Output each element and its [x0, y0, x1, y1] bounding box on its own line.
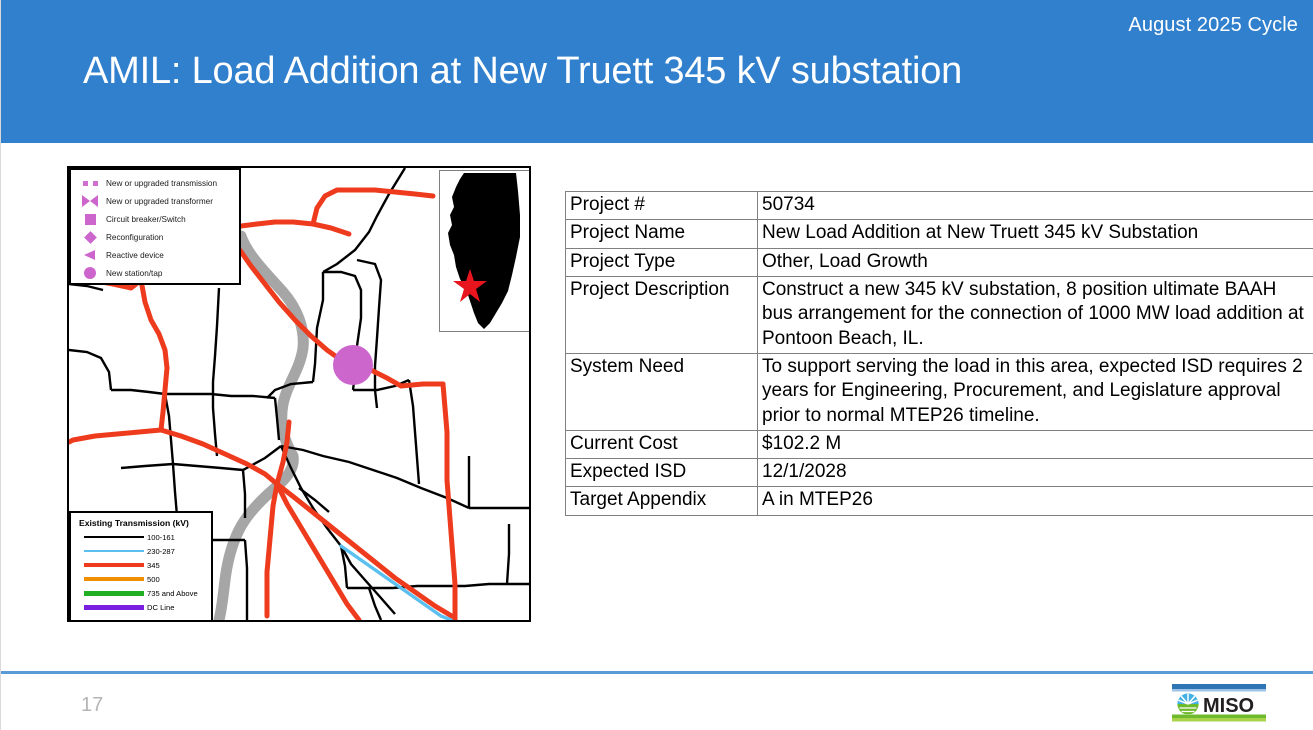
- filled-square-icon: [77, 214, 103, 225]
- transmission-map[interactable]: New or upgraded transmission New or upgr…: [67, 166, 531, 622]
- voltage-label: 230-287: [147, 547, 175, 556]
- row-key: Project Type: [566, 248, 758, 276]
- voltage-row-100-161: 100-161: [76, 530, 211, 544]
- legend-label: New or upgraded transmission: [106, 179, 217, 188]
- row-value: New Load Addition at New Truett 345 kV S…: [758, 220, 1313, 248]
- legend-label: Circuit breaker/Switch: [106, 215, 186, 224]
- diamond-icon: [77, 233, 103, 242]
- legend-label: Reactive device: [106, 251, 164, 260]
- row-value: 50734: [758, 192, 1313, 220]
- row-key: Project Name: [566, 220, 758, 248]
- row-key: Expected ISD: [566, 459, 758, 487]
- slide: August 2025 Cycle AMIL: Load Addition at…: [0, 0, 1313, 730]
- bowtie-transformer-icon: [77, 194, 103, 208]
- legend-label: New station/tap: [106, 269, 162, 278]
- legend-item-new-station: New station/tap: [77, 264, 235, 282]
- row-key: Target Appendix: [566, 487, 758, 515]
- line-swatch-345: [84, 563, 144, 567]
- voltage-label: 345: [147, 561, 160, 570]
- map-symbol-legend: New or upgraded transmission New or upgr…: [69, 168, 241, 285]
- line-swatch-100-161: [84, 536, 144, 538]
- project-info-table: Project # 50734 Project Name New Load Ad…: [565, 191, 1313, 516]
- legend-item-reconfiguration: Reconfiguration: [77, 228, 235, 246]
- slide-header: August 2025 Cycle AMIL: Load Addition at…: [1, 0, 1313, 143]
- voltage-row-735: 735 and Above: [76, 586, 211, 600]
- row-key: Project #: [566, 192, 758, 220]
- legend-item-new-transmission: New or upgraded transmission: [77, 174, 235, 192]
- legend-label: Reconfiguration: [106, 233, 163, 242]
- legend-item-new-transformer: New or upgraded transformer: [77, 192, 235, 210]
- row-value: To support serving the load in this area…: [758, 353, 1313, 430]
- row-value: Construct a new 345 kV substation, 8 pos…: [758, 276, 1313, 353]
- table-row: Project Type Other, Load Growth: [566, 248, 1313, 276]
- voltage-legend-title: Existing Transmission (kV): [79, 518, 211, 528]
- page-number: 17: [81, 694, 103, 717]
- voltage-row-345: 345: [76, 558, 211, 572]
- table-row: Target Appendix A in MTEP26: [566, 487, 1313, 515]
- table-row: System Need To support serving the load …: [566, 353, 1313, 430]
- table-row: Project # 50734: [566, 192, 1313, 220]
- voltage-row-500: 500: [76, 572, 211, 586]
- voltage-row-230-287: 230-287: [76, 544, 211, 558]
- line-swatch-230-287: [84, 550, 144, 552]
- voltage-label: 500: [147, 575, 160, 584]
- two-small-squares-icon: [77, 181, 103, 186]
- row-value: A in MTEP26: [758, 487, 1313, 515]
- legend-item-circuit-breaker: Circuit breaker/Switch: [77, 210, 235, 228]
- footer-divider: [1, 671, 1313, 674]
- voltage-label: DC Line: [147, 603, 174, 612]
- line-swatch-500: [84, 577, 144, 581]
- row-key: System Need: [566, 353, 758, 430]
- row-key: Project Description: [566, 276, 758, 353]
- row-value: 12/1/2028: [758, 459, 1313, 487]
- state-inset-map: [439, 170, 531, 332]
- legend-label: New or upgraded transformer: [106, 197, 213, 206]
- left-triangle-icon: [77, 249, 103, 261]
- row-value: $102.2 M: [758, 430, 1313, 458]
- illinois-shape-icon: [440, 171, 530, 331]
- line-swatch-735: [84, 591, 144, 596]
- map-voltage-legend: Existing Transmission (kV) 100-161 230-2…: [69, 511, 213, 622]
- cycle-label: August 2025 Cycle: [1128, 14, 1298, 37]
- table-row: Project Description Construct a new 345 …: [566, 276, 1313, 353]
- voltage-label: 100-161: [147, 533, 175, 542]
- legend-item-reactive-device: Reactive device: [77, 246, 235, 264]
- table-row: Expected ISD 12/1/2028: [566, 459, 1313, 487]
- line-swatch-dc: [84, 605, 144, 610]
- table-row: Project Name New Load Addition at New Tr…: [566, 220, 1313, 248]
- filled-circle-icon: [77, 267, 103, 279]
- page-title: AMIL: Load Addition at New Truett 345 kV…: [83, 50, 962, 93]
- table-row: Current Cost $102.2 M: [566, 430, 1313, 458]
- row-key: Current Cost: [566, 430, 758, 458]
- miso-wordmark: MISO: [1203, 695, 1254, 717]
- voltage-row-dc: DC Line: [76, 600, 211, 614]
- miso-logo: MISO: [1172, 684, 1266, 724]
- voltage-label: 735 and Above: [147, 589, 198, 598]
- row-value: Other, Load Growth: [758, 248, 1313, 276]
